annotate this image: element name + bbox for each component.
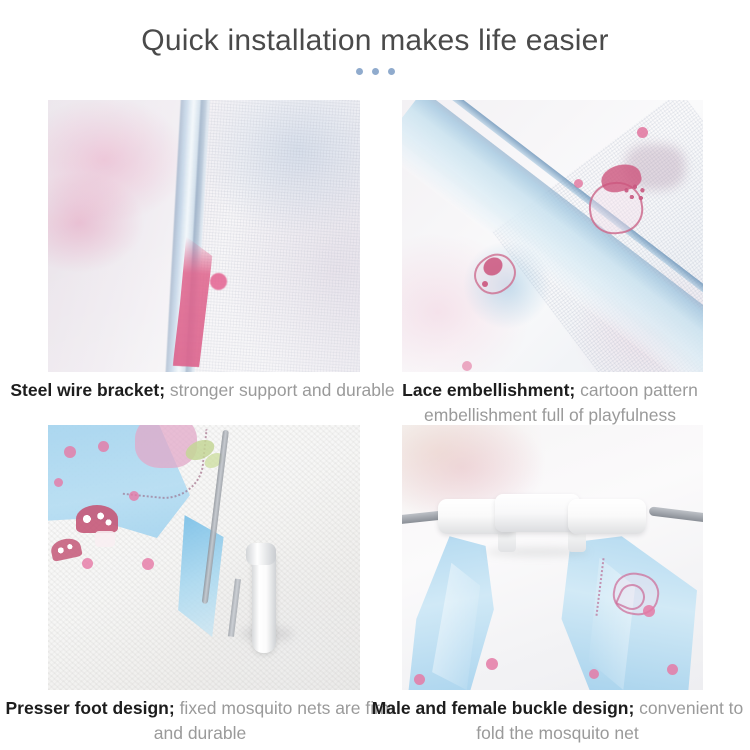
pink-polka-dot	[142, 558, 154, 570]
support-rod-right	[649, 506, 703, 522]
pink-polka-dot	[82, 558, 93, 569]
blue-net-fabric-left	[408, 536, 546, 690]
feature-caption-buckle-design: Male and female buckle design; convenien…	[365, 696, 750, 746]
cartoon-motif-small-dot	[482, 281, 488, 287]
photo-steel-wire-bracket	[48, 100, 360, 372]
feature-photo-lace-embellishment	[402, 100, 703, 372]
pink-polka-dot	[64, 446, 76, 458]
photo-lace-embellishment	[402, 100, 703, 372]
caption-highlight: Male and female buckle design;	[372, 698, 635, 718]
pink-polka-dot	[589, 669, 599, 679]
feature-photo-steel-wire-bracket	[48, 100, 360, 372]
pink-polka-dot	[667, 664, 678, 675]
caption-highlight: Presser foot design;	[5, 698, 174, 718]
feature-caption-steel-wire-bracket: Steel wire bracket; stronger support and…	[0, 378, 405, 403]
pink-polka-dot	[486, 658, 498, 670]
soft-light-overlay	[48, 100, 360, 372]
pink-polka-dot	[637, 127, 648, 138]
photo-male-female-buckle	[402, 425, 703, 690]
photo-presser-foot-design	[48, 425, 360, 690]
pink-polka-dot	[643, 605, 655, 617]
pink-polka-dot	[98, 441, 109, 452]
divider-dot-1	[356, 68, 363, 75]
mushroom-motif-stem	[95, 531, 115, 547]
decorative-dot-divider	[0, 68, 750, 75]
mushroom-motif-spots	[79, 510, 115, 530]
buckle-female-end	[568, 499, 646, 533]
caption-description: fixed mosquito nets are firm and durable	[154, 698, 395, 743]
feature-caption-lace-embellishment: Lace embellishment; cartoon pattern embe…	[350, 378, 750, 428]
page-title: Quick installation makes life easier	[0, 24, 750, 58]
buckle-center-housing	[495, 494, 579, 532]
product-feature-infographic: Quick installation makes life easier	[0, 0, 750, 750]
divider-dot-2	[372, 68, 379, 75]
presser-foot-collar	[246, 543, 276, 565]
cartoon-motif-large-dots	[620, 179, 650, 206]
divider-dot-3	[388, 68, 395, 75]
pink-polka-dot	[462, 361, 472, 371]
feature-photo-presser-foot	[48, 425, 360, 690]
pink-polka-dot	[574, 179, 583, 188]
feature-caption-presser-foot: Presser foot design; fixed mosquito nets…	[0, 696, 400, 746]
feature-photo-buckle-design	[402, 425, 703, 690]
caption-highlight: Lace embellishment;	[402, 380, 575, 400]
caption-highlight: Steel wire bracket;	[10, 380, 165, 400]
